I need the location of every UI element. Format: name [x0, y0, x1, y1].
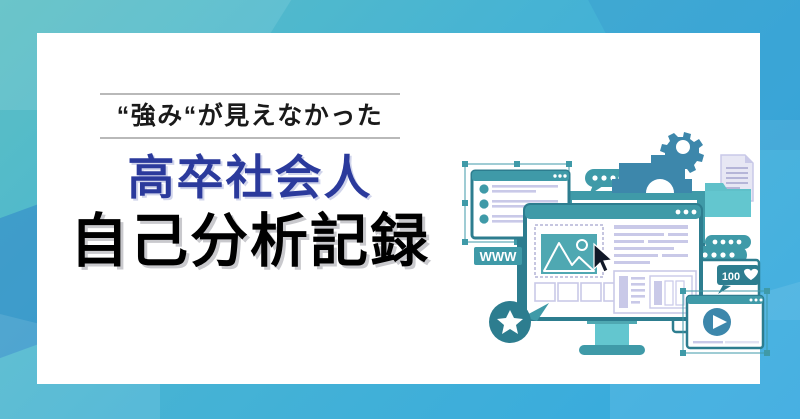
likes-count-label: 100: [722, 271, 740, 283]
toolbar-dots-folder: [705, 235, 751, 249]
banner-canvas: “強み“が見えなかった 高卒社会人 自己分析記録: [0, 0, 800, 419]
text-block: “強み“が見えなかった 高卒社会人 自己分析記録: [40, 93, 460, 273]
illustration: WWW: [459, 121, 789, 373]
page-title-secondary: 自己分析記録: [40, 212, 460, 273]
divider-rule-bottom: [100, 137, 400, 139]
image-placeholder-icon: [540, 233, 598, 275]
play-button-icon[interactable]: [703, 308, 731, 336]
www-badge: WWW: [474, 247, 522, 265]
divider-rule-top: [100, 93, 400, 95]
subtitle: “強み“が見えなかった: [40, 102, 460, 131]
white-card: “強み“が見えなかった 高卒社会人 自己分析記録: [37, 33, 760, 384]
page-title-primary: 高卒社会人: [40, 153, 460, 202]
video-window[interactable]: [680, 288, 770, 356]
www-badge-label: WWW: [480, 249, 518, 264]
